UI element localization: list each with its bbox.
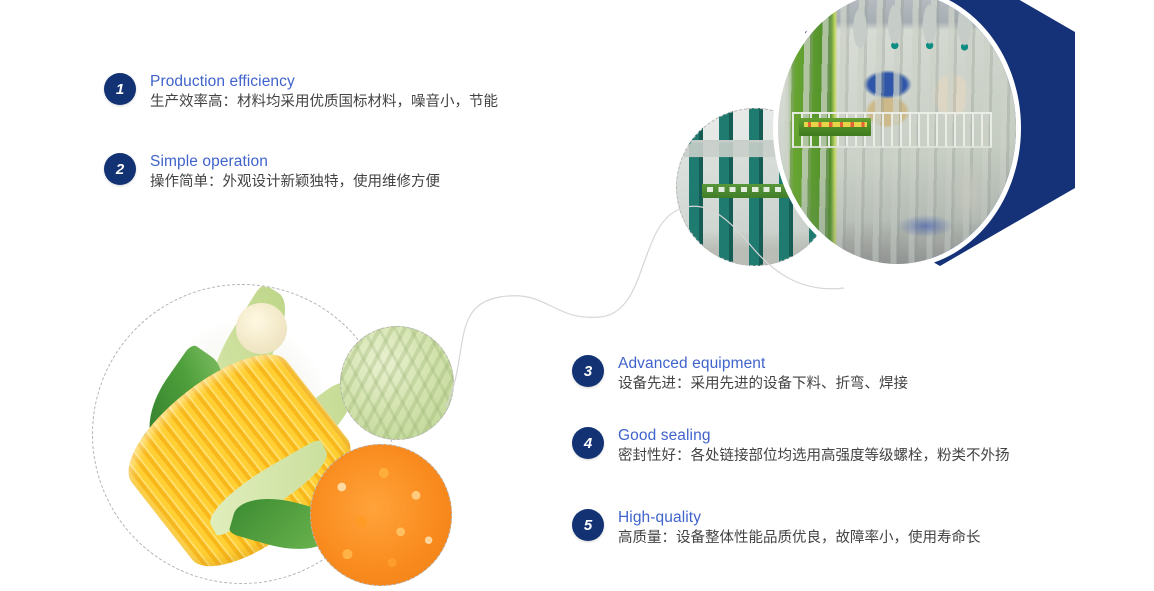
feature-desc-4: 密封性好：各处链接部位均选用高强度等级螺栓，粉类不外扬 <box>618 446 1010 467</box>
feature-desc-5: 高质量：设备整体性能品质优良，故障率小，使用寿命长 <box>618 528 981 549</box>
feature-badge-4: 4 <box>572 427 604 459</box>
feature-infographic: 1 Production efficiency 生产效率高：材料均采用优质国标材… <box>0 0 1154 591</box>
feature-text-1: Production efficiency 生产效率高：材料均采用优质国标材料，… <box>150 72 498 113</box>
feature-desc-1: 生产效率高：材料均采用优质国标材料，噪音小，节能 <box>150 92 498 113</box>
feature-item-3[interactable]: 3 Advanced equipment 设备先进：采用先进的设备下料、折弯、焊… <box>572 354 908 395</box>
feature-title-5: High-quality <box>618 508 981 527</box>
feature-title-3: Advanced equipment <box>618 354 908 373</box>
feature-text-5: High-quality 高质量：设备整体性能品质优良，故障率小，使用寿命长 <box>618 508 981 549</box>
feature-title-4: Good sealing <box>618 426 1010 445</box>
feature-title-2: Simple operation <box>150 152 440 171</box>
feature-title-1: Production efficiency <box>150 72 498 91</box>
corn-cob-tip <box>236 303 287 354</box>
feature-badge-2: 2 <box>104 153 136 185</box>
green-corn-flour-photo <box>340 326 454 440</box>
feature-badge-1: 1 <box>104 73 136 105</box>
feature-item-2[interactable]: 2 Simple operation 操作简单：外观设计新颖独特，使用维修方便 <box>104 152 440 193</box>
feature-badge-3: 3 <box>572 355 604 387</box>
feature-desc-3: 设备先进：采用先进的设备下料、折弯、焊接 <box>618 374 908 395</box>
feature-item-1[interactable]: 1 Production efficiency 生产效率高：材料均采用优质国标材… <box>104 72 498 113</box>
feature-text-4: Good sealing 密封性好：各处链接部位均选用高强度等级螺栓，粉类不外扬 <box>618 426 1010 467</box>
feature-item-5[interactable]: 5 High-quality 高质量：设备整体性能品质优良，故障率小，使用寿命长 <box>572 508 981 549</box>
feature-text-2: Simple operation 操作简单：外观设计新颖独特，使用维修方便 <box>150 152 440 193</box>
factory-banner <box>799 118 870 136</box>
feature-text-3: Advanced equipment 设备先进：采用先进的设备下料、折弯、焊接 <box>618 354 908 395</box>
feature-badge-5: 5 <box>572 509 604 541</box>
feature-item-4[interactable]: 4 Good sealing 密封性好：各处链接部位均选用高强度等级螺栓，粉类不… <box>572 426 1010 467</box>
plant-signboard <box>702 184 799 198</box>
orange-corn-grits-photo <box>310 444 452 586</box>
feature-desc-2: 操作简单：外观设计新颖独特，使用维修方便 <box>150 172 440 193</box>
cyclone-separators <box>840 0 1007 71</box>
flour-mill-machinery-photo <box>778 0 1016 264</box>
